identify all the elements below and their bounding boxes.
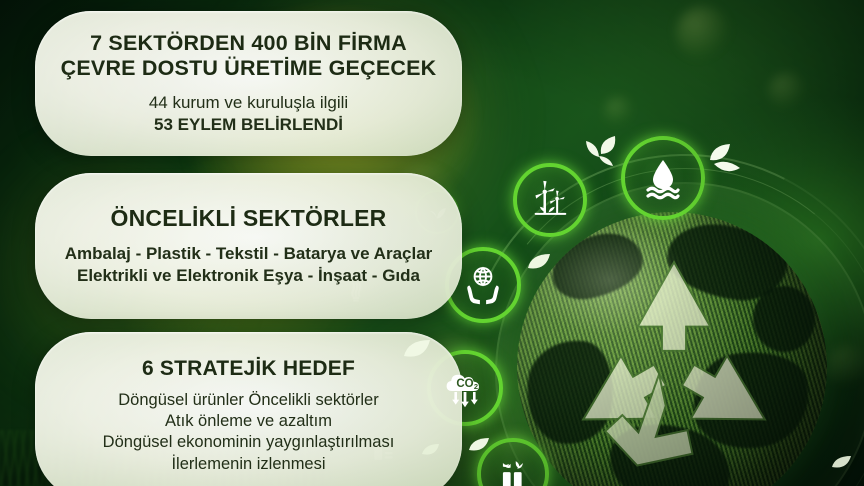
- leaf-icon: [464, 434, 500, 462]
- leaf-icon: [700, 140, 756, 182]
- leaf-icon: [398, 336, 442, 370]
- water-drop-glyph: [639, 154, 687, 202]
- wind-turbine-glyph: [527, 177, 573, 223]
- co2-label: CO: [456, 378, 473, 390]
- leaf-icon: [520, 250, 564, 284]
- leaf-icon: [575, 130, 629, 174]
- card-priority-sectors-list: Ambalaj - Plastik - Tekstil - Batarya ve…: [65, 243, 433, 287]
- card-headline: 7 SEKTÖRDEN 400 BİN FİRMA ÇEVRE DOSTU ÜR…: [35, 11, 462, 156]
- card-strategic-goals-list: Döngüsel ürünler Öncelikli sektörler Atı…: [103, 390, 395, 476]
- card-headline-subtitle: 44 kurum ve kuruluşla ilgili 53 EYLEM BE…: [149, 92, 348, 136]
- card-strategic-goals-title: 6 STRATEJİK HEDEF: [142, 357, 355, 382]
- card-priority-sectors-title: ÖNCELİKLİ SEKTÖRLER: [111, 205, 387, 232]
- co2-cloud-glyph: CO 2: [440, 363, 490, 413]
- co2-subscript: 2: [474, 382, 478, 391]
- leaf-icon: [418, 440, 448, 464]
- infographic-canvas: CO 2: [0, 0, 864, 486]
- hands-globe-glyph: [459, 261, 507, 309]
- leaf-icon: [828, 452, 862, 478]
- card-headline-title: 7 SEKTÖRDEN 400 BİN FİRMA ÇEVRE DOSTU ÜR…: [61, 31, 437, 82]
- card-priority-sectors: ÖNCELİKLİ SEKTÖRLER Ambalaj - Plastik - …: [35, 173, 462, 319]
